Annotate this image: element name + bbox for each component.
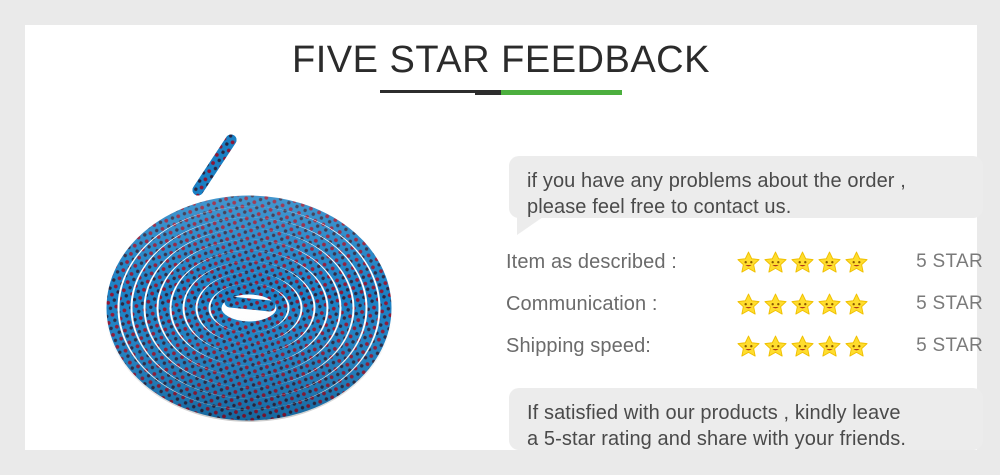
product-image [25, 93, 475, 450]
title-underline-green-segment [501, 90, 622, 95]
contact-message-line-1: if you have any problems about the order… [527, 168, 967, 194]
coiled-shoelace-illustration [25, 93, 475, 450]
rating-label: Item as described : [506, 251, 736, 274]
rating-label: Communication : [506, 293, 736, 316]
star-icon [736, 250, 761, 275]
star-icon [763, 334, 788, 359]
rating-label: Shipping speed: [506, 335, 736, 358]
star-icon [817, 292, 842, 317]
star-rating-group [736, 250, 876, 275]
feedback-banner: FIVE STAR FEEDBACK [0, 0, 1000, 475]
rating-value: 5 STAR [876, 251, 983, 273]
star-icon [817, 250, 842, 275]
star-icon [817, 334, 842, 359]
star-icon [763, 250, 788, 275]
star-icon [790, 334, 815, 359]
star-icon [844, 334, 869, 359]
rating-value: 5 STAR [876, 335, 983, 357]
star-rating-group [736, 292, 876, 317]
rating-row-item-as-described: Item as described : 5 STAR [506, 241, 983, 283]
star-icon [844, 292, 869, 317]
rating-request-line-1: If satisfied with our products , kindly … [527, 400, 967, 426]
rating-value: 5 STAR [876, 293, 983, 315]
star-icon [790, 292, 815, 317]
star-icon [763, 292, 788, 317]
rating-request-line-2: a 5-star rating and share with your frie… [527, 426, 967, 452]
rating-list: Item as described : 5 STAR Communication… [506, 241, 983, 367]
contact-message-bubble: if you have any problems about the order… [509, 156, 983, 218]
star-icon [736, 292, 761, 317]
star-rating-group [736, 334, 876, 359]
star-icon [736, 334, 761, 359]
rating-request-bubble: If satisfied with our products , kindly … [509, 388, 983, 450]
star-icon [790, 250, 815, 275]
feedback-panel: if you have any problems about the order… [484, 110, 977, 450]
contact-message-line-2: please feel free to contact us. [527, 194, 967, 220]
page-title: FIVE STAR FEEDBACK [25, 39, 977, 82]
content-card: FIVE STAR FEEDBACK [25, 25, 977, 450]
bubble-tail-icon [517, 217, 543, 235]
rating-row-communication: Communication : 5 STAR [506, 283, 983, 325]
rating-row-shipping-speed: Shipping speed: 5 STAR [506, 325, 983, 367]
star-icon [844, 250, 869, 275]
